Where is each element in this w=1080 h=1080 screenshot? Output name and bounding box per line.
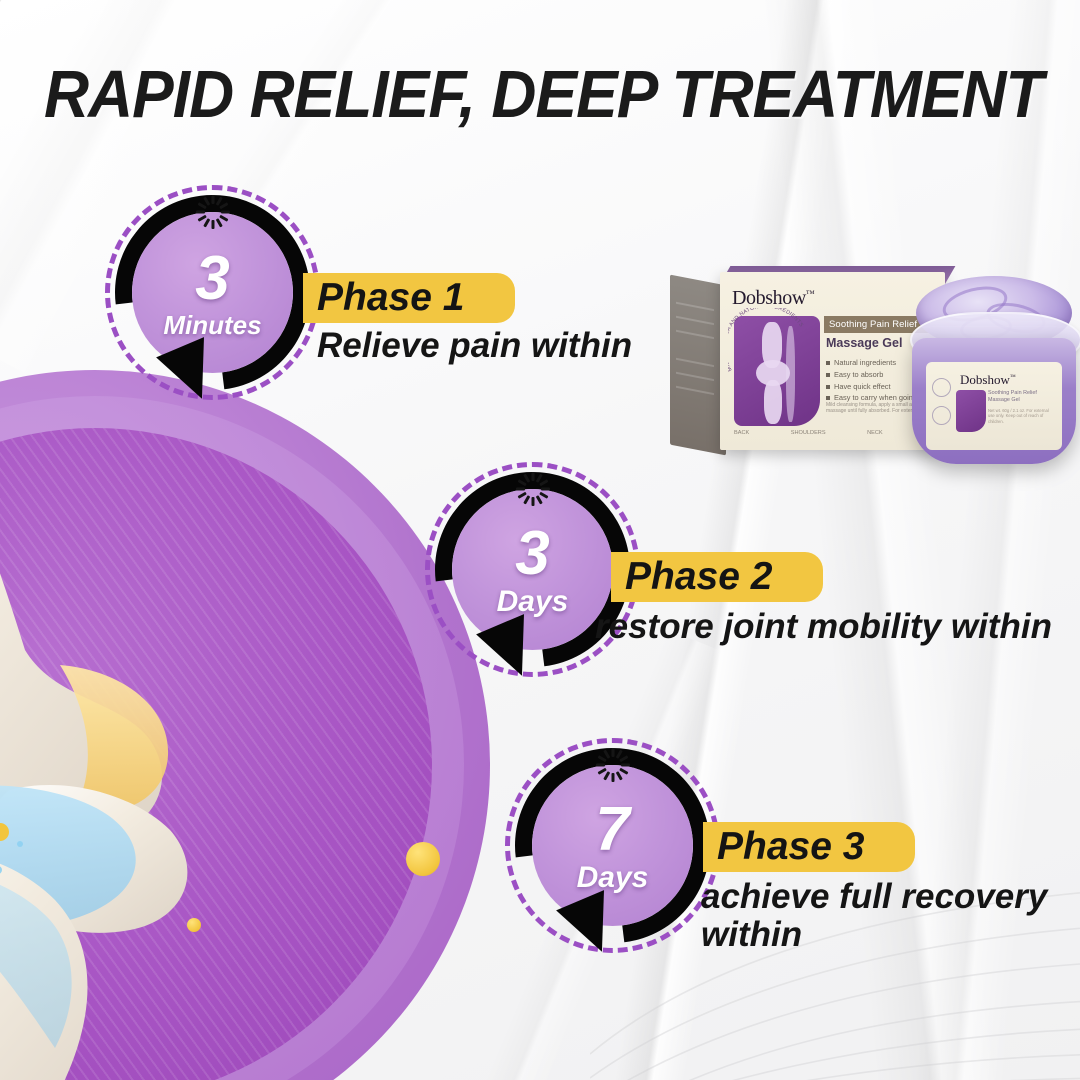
- phase-block-3: 7 Days Phase 3 achieve full recovery wit…: [505, 738, 1080, 988]
- jar-subtitle-line1: Soothing Pain Relief: [988, 390, 1037, 397]
- jar-subtitle: Soothing Pain Relief Massage Gel: [988, 390, 1037, 404]
- trademark-symbol: ™: [806, 288, 814, 298]
- phase-number: 3: [452, 523, 613, 585]
- jar-seal-icon: [932, 406, 951, 425]
- page-title: RAPID RELIEF, DEEP TREATMENT: [44, 61, 974, 128]
- phase-banner-1: Phase 1: [303, 273, 515, 323]
- trademark-symbol: ™: [1010, 375, 1016, 381]
- jar-body: Dobshow™ Soothing Pain Relief Massage Ge…: [912, 338, 1076, 464]
- phase-banner-3: Phase 3: [703, 822, 915, 872]
- phase-banner-label: Phase 3: [703, 825, 864, 869]
- jar-brand-name: Dobshow™: [960, 372, 1016, 388]
- jar-knee-graphic: [956, 390, 986, 432]
- clock-face: 7 Days: [532, 765, 693, 926]
- product-jar: Dobshow™ Soothing Pain Relief Massage Ge…: [910, 276, 1078, 472]
- phase-block-2: 3 Days Phase 2 restore joint mobility wi…: [425, 462, 1075, 692]
- particle-dot: [406, 842, 440, 876]
- phase-banner-2: Phase 2: [611, 552, 823, 602]
- jar-fineprint: Net wt. 60g / 2.1 oz. For external use o…: [988, 408, 1054, 424]
- poster-root: RAPID RELIEF, DEEP TREATMENT: [0, 0, 1080, 1080]
- phase-unit: Days: [532, 863, 693, 893]
- knee-bones-icon: [0, 400, 370, 1080]
- phase-block-1: 3 Minutes Phase 1 Relieve pain within: [105, 185, 725, 415]
- jar-subtitle-line2: Massage Gel: [988, 397, 1037, 404]
- bodypart-label: SHOULDERS: [791, 430, 826, 436]
- jar-seal-icon: [932, 378, 951, 397]
- box-product-name: Massage Gel: [826, 336, 902, 350]
- phase-unit: Days: [452, 587, 613, 617]
- clock-badge-3: 7 Days: [505, 738, 720, 953]
- knee-joint-illustration: [0, 370, 490, 1080]
- box-brand-name: Dobshow™: [732, 287, 814, 310]
- clock-face: 3 Minutes: [132, 212, 293, 373]
- phase-caption-2: restore joint mobility within: [595, 608, 1080, 646]
- phase-caption-1: Relieve pain within: [317, 327, 747, 365]
- phase-unit: Minutes: [132, 312, 293, 338]
- phase-banner-label: Phase 1: [303, 276, 464, 320]
- jar-label: Dobshow™ Soothing Pain Relief Massage Ge…: [926, 362, 1062, 450]
- phase-banner-label: Phase 2: [611, 555, 772, 599]
- clock-face: 3 Days: [452, 489, 613, 650]
- bodypart-label: NECK: [867, 430, 883, 436]
- bodypart-label: BACK: [734, 430, 749, 436]
- phase-number: 3: [132, 248, 293, 310]
- phase-number: 7: [532, 799, 693, 861]
- phase-caption-3: achieve full recovery within: [701, 878, 1071, 954]
- clock-badge-1: 3 Minutes: [105, 185, 320, 400]
